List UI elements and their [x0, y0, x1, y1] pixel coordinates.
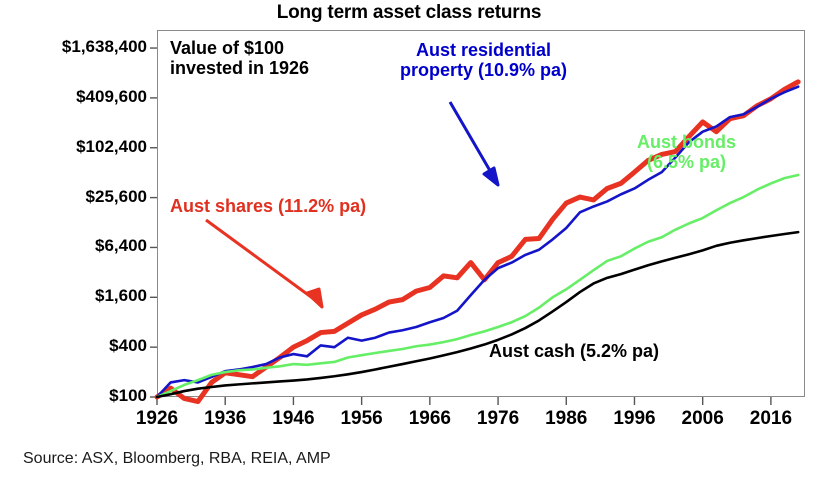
y-axis-tick-label: $400 — [0, 336, 147, 356]
series-line-aust-cash — [157, 232, 798, 397]
annotation-shares-label: Aust shares (11.2% pa) — [170, 196, 366, 216]
shares-arrow-head — [307, 289, 322, 307]
source-caption: Source: ASX, Bloomberg, RBA, REIA, AMP — [23, 450, 331, 468]
chart-container: Long term asset class returns $100$400$1… — [0, 0, 818, 478]
property-arrow-head — [484, 168, 498, 185]
annotation-property-label: Aust residential property (10.9% pa) — [400, 40, 567, 80]
annotation-cash-label: Aust cash (5.2% pa) — [489, 341, 659, 361]
y-axis-tick-label: $6,400 — [0, 236, 147, 256]
series-line-aust-shares — [157, 82, 798, 402]
y-axis-tick-label: $409,600 — [0, 87, 147, 107]
y-axis-tick-label: $1,638,400 — [0, 37, 147, 57]
property-arrow-line — [450, 102, 496, 181]
series-lines — [157, 82, 798, 402]
shares-arrow-line — [206, 220, 322, 305]
x-axis-tick-label: 2016 — [731, 408, 811, 430]
y-axis-tick-label: $25,600 — [0, 187, 147, 207]
y-axis-tick-label: $102,400 — [0, 137, 147, 157]
y-axis-tick-label: $1,600 — [0, 286, 147, 306]
y-axis-tick-label: $100 — [0, 386, 147, 406]
annotation-bonds-label: Aust bonds (6.5% pa) — [637, 132, 736, 172]
annotation-value-note: Value of $100 invested in 1926 — [170, 38, 309, 78]
